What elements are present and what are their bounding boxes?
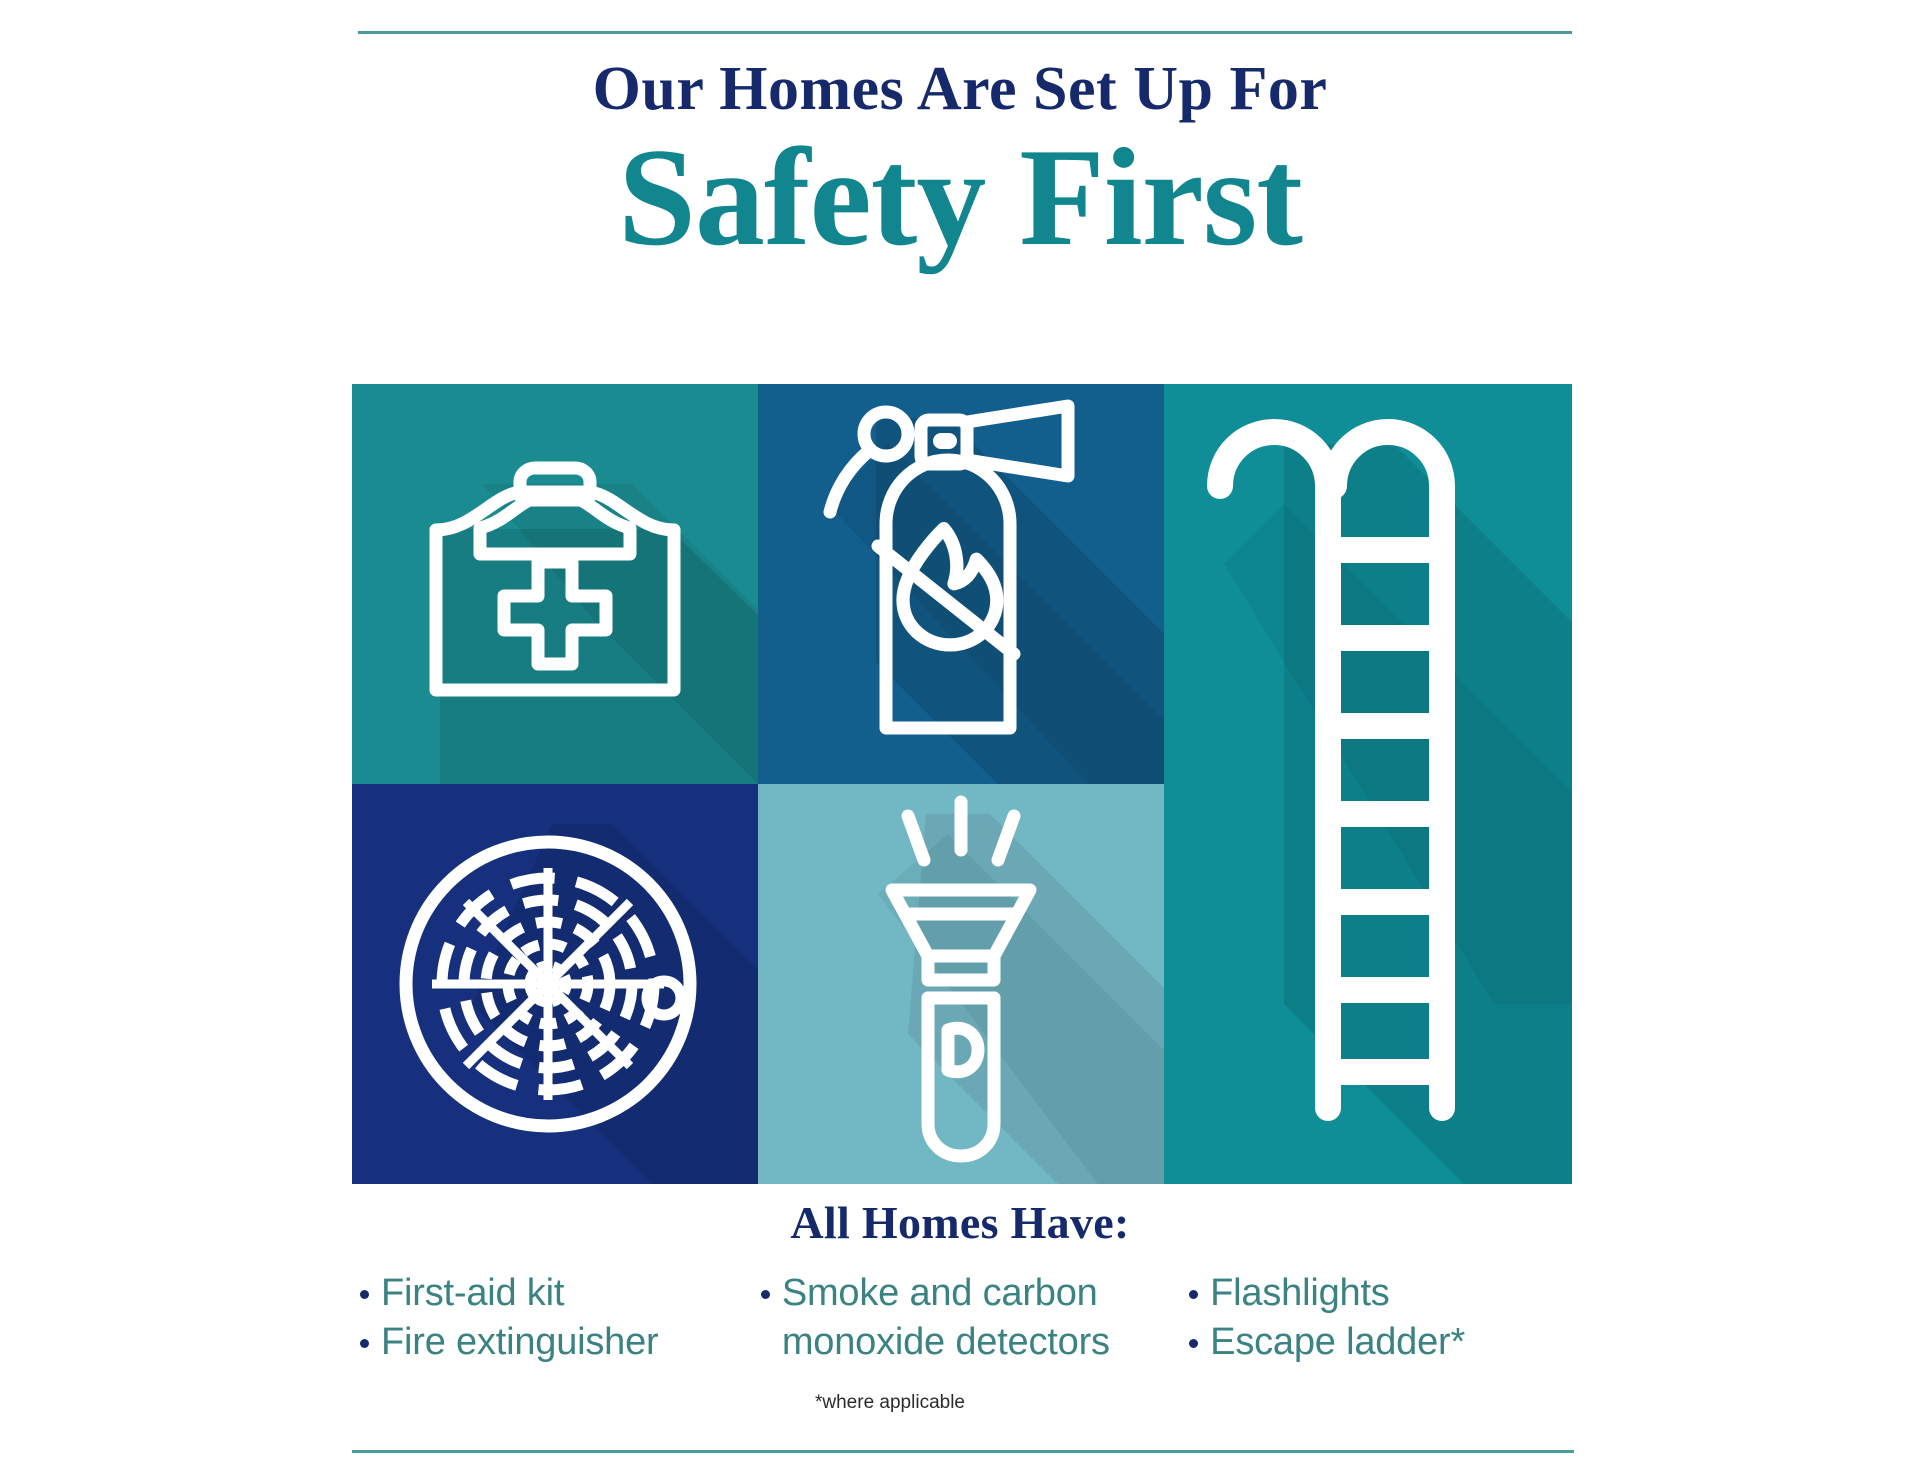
bottom-divider-rule <box>352 1450 1574 1453</box>
list-item-label: First-aid kit <box>381 1272 564 1315</box>
flashlight-icon <box>758 784 1164 1184</box>
tile-smoke-detector <box>352 784 758 1184</box>
all-homes-have-heading: All Homes Have: <box>0 1196 1920 1249</box>
list-item: Escape ladder* <box>1189 1321 1580 1364</box>
top-divider-rule <box>358 31 1572 34</box>
safety-icon-grid <box>352 384 1572 1184</box>
escape-ladder-icon <box>1164 384 1572 1184</box>
list-item: Fire extinguisher <box>360 1321 751 1364</box>
footnote-text: *where applicable <box>815 1392 965 1414</box>
fire-extinguisher-icon <box>758 384 1164 784</box>
footnote-row: *where applicable <box>0 1392 1920 1414</box>
list-item-label: Fire extinguisher <box>381 1321 659 1364</box>
tile-escape-ladder <box>1164 384 1572 1184</box>
checklist-column-3: Flashlights Escape ladder* <box>1171 1272 1580 1369</box>
bullet-icon <box>1189 1339 1198 1348</box>
bullet-icon <box>360 1290 369 1299</box>
list-item: First-aid kit <box>360 1272 751 1315</box>
safety-first-poster: Our Homes Are Set Up For Safety First <box>0 0 1920 1483</box>
page-title-line-1: Our Homes Are Set Up For <box>0 58 1920 120</box>
tile-first-aid-kit <box>352 384 758 784</box>
list-item: Smoke and carbon <box>761 1272 1171 1315</box>
bullet-icon <box>1189 1290 1198 1299</box>
smoke-detector-icon <box>352 784 758 1184</box>
tile-fire-extinguisher <box>758 384 1164 784</box>
list-item: Flashlights <box>1189 1272 1580 1315</box>
page-title-line-2: Safety First <box>0 124 1920 271</box>
checklist-column-2: Smoke and carbon monoxide detectors <box>751 1272 1171 1363</box>
list-item-label: Flashlights <box>1210 1272 1389 1315</box>
list-item-label: Smoke and carbon <box>782 1272 1098 1315</box>
list-item-label-continued: monoxide detectors <box>761 1321 1171 1364</box>
tile-flashlight <box>758 784 1164 1184</box>
bullet-icon <box>761 1290 770 1299</box>
bullet-icon <box>360 1339 369 1348</box>
checklist-columns: First-aid kit Fire extinguisher Smoke an… <box>340 1272 1580 1369</box>
first-aid-kit-icon <box>352 384 758 784</box>
list-item-label: Escape ladder* <box>1210 1321 1465 1364</box>
checklist-column-1: First-aid kit Fire extinguisher <box>340 1272 751 1369</box>
